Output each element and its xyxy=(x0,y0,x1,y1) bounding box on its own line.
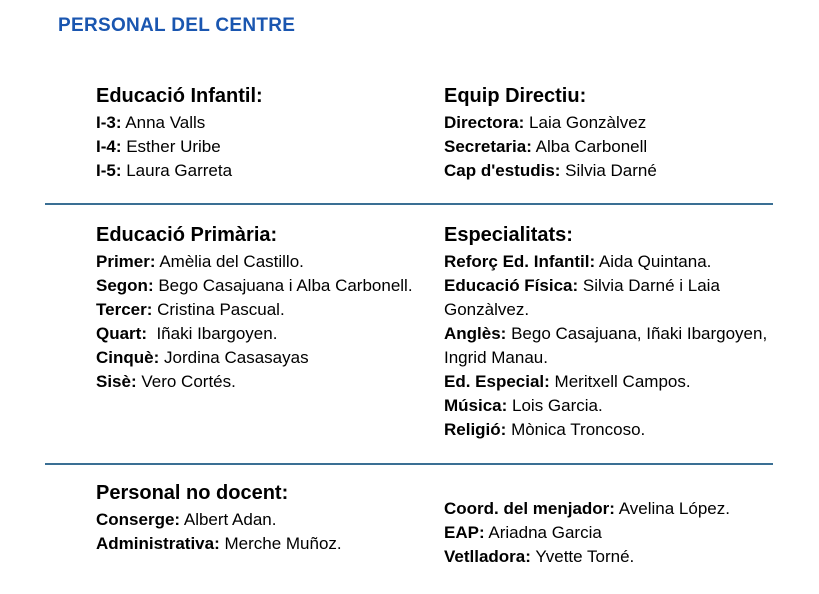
entry-role: Directora: xyxy=(444,113,524,132)
page-title: PERSONAL DEL CENTRE xyxy=(58,15,295,37)
entry-name: Vero Cortés. xyxy=(137,372,236,391)
entry-list: Primer: Amèlia del Castillo. Segon: Bego… xyxy=(96,250,426,394)
section-heading: Educació Primària: xyxy=(96,222,426,249)
entry-role: Anglès: xyxy=(444,324,506,343)
entry-role: Tercer: xyxy=(96,300,152,319)
entry-role: Secretaria: xyxy=(444,137,532,156)
section-educacio-primaria: Educació Primària: Primer: Amèlia del Ca… xyxy=(96,222,426,394)
entry-role: Administrativa: xyxy=(96,534,220,553)
entry-name: Amèlia del Castillo. xyxy=(156,252,304,271)
entry-role: EAP: xyxy=(444,523,485,542)
entry-name: Anna Valls xyxy=(122,113,206,132)
section-heading: Especialitats: xyxy=(444,222,779,249)
entry-name: Cristina Pascual. xyxy=(152,300,284,319)
entry-name: Meritxell Campos. xyxy=(550,372,691,391)
section-especialitats: Especialitats: Reforç Ed. Infantil: Aida… xyxy=(444,222,779,442)
entry-role: Sisè: xyxy=(96,372,137,391)
entry-name: Esther Uribe xyxy=(122,137,221,156)
entry-name: Laia Gonzàlvez xyxy=(524,113,646,132)
list-item: Directora: Laia Gonzàlvez xyxy=(444,111,779,135)
list-item: Coord. del menjador: Avelina López. xyxy=(444,497,779,521)
section-educacio-infantil: Educació Infantil: I-3: Anna Valls I-4: … xyxy=(96,83,426,183)
list-item: Anglès: Bego Casajuana, Iñaki Ibargoyen,… xyxy=(444,322,779,370)
entry-list: Conserge: Albert Adan. Administrativa: M… xyxy=(96,508,426,556)
list-item: Religió: Mònica Troncoso. xyxy=(444,418,779,442)
entry-role: Educació Física: xyxy=(444,276,578,295)
entry-role: Ed. Especial: xyxy=(444,372,550,391)
entry-name: Aida Quintana. xyxy=(595,252,711,271)
section-heading: Educació Infantil: xyxy=(96,83,426,110)
entry-role: Cinquè: xyxy=(96,348,159,367)
list-item: I-3: Anna Valls xyxy=(96,111,426,135)
document-page: PERSONAL DEL CENTRE Educació Infantil: I… xyxy=(0,0,819,594)
list-item: Tercer: Cristina Pascual. xyxy=(96,298,426,322)
entry-role: I-4: xyxy=(96,137,122,156)
entry-role: I-3: xyxy=(96,113,122,132)
section-divider xyxy=(45,463,773,465)
section-heading: Equip Directiu: xyxy=(444,83,779,110)
entry-role: Cap d'estudis: xyxy=(444,161,560,180)
list-item: I-5: Laura Garreta xyxy=(96,159,426,183)
list-item: Administrativa: Merche Muñoz. xyxy=(96,532,426,556)
entry-name: Albert Adan. xyxy=(180,510,276,529)
list-item: Vetlladora: Yvette Torné. xyxy=(444,545,779,569)
entry-role: Religió: xyxy=(444,420,506,439)
list-item: Cinquè: Jordina Casasayas xyxy=(96,346,426,370)
list-item: Conserge: Albert Adan. xyxy=(96,508,426,532)
entry-role: Coord. del menjador: xyxy=(444,499,615,518)
list-item: Quart: Iñaki Ibargoyen. xyxy=(96,322,426,346)
entry-name: Lois Garcia. xyxy=(507,396,602,415)
entry-name: Yvette Torné. xyxy=(531,547,634,566)
entry-name: Jordina Casasayas xyxy=(159,348,308,367)
entry-role: Conserge: xyxy=(96,510,180,529)
entry-name: Iñaki Ibargoyen. xyxy=(147,324,277,343)
section-divider xyxy=(45,203,773,205)
entry-name: Merche Muñoz. xyxy=(220,534,342,553)
list-item: Educació Física: Silvia Darné i Laia Gon… xyxy=(444,274,779,322)
entry-role: Música: xyxy=(444,396,507,415)
list-item: Música: Lois Garcia. xyxy=(444,394,779,418)
section-equip-directiu: Equip Directiu: Directora: Laia Gonzàlve… xyxy=(444,83,779,183)
entry-name: Silvia Darné xyxy=(560,161,656,180)
entry-role: Segon: xyxy=(96,276,154,295)
entry-list: I-3: Anna Valls I-4: Esther Uribe I-5: L… xyxy=(96,111,426,183)
entry-role: Primer: xyxy=(96,252,156,271)
entry-name: Bego Casajuana i Alba Carbonell. xyxy=(154,276,413,295)
list-item: Sisè: Vero Cortés. xyxy=(96,370,426,394)
entry-list: Reforç Ed. Infantil: Aida Quintana. Educ… xyxy=(444,250,779,442)
section-heading: Personal no docent: xyxy=(96,480,426,507)
list-item: Reforç Ed. Infantil: Aida Quintana. xyxy=(444,250,779,274)
list-item: Ed. Especial: Meritxell Campos. xyxy=(444,370,779,394)
entry-name: Ariadna Garcia xyxy=(485,523,602,542)
list-item: I-4: Esther Uribe xyxy=(96,135,426,159)
entry-list: Directora: Laia Gonzàlvez Secretaria: Al… xyxy=(444,111,779,183)
list-item: EAP: Ariadna Garcia xyxy=(444,521,779,545)
entry-name: Laura Garreta xyxy=(122,161,233,180)
entry-name: Avelina López. xyxy=(615,499,730,518)
list-item: Secretaria: Alba Carbonell xyxy=(444,135,779,159)
entry-list: Coord. del menjador: Avelina López. EAP:… xyxy=(444,497,779,569)
entry-role: Vetlladora: xyxy=(444,547,531,566)
entry-name: Alba Carbonell xyxy=(532,137,647,156)
entry-role: Reforç Ed. Infantil: xyxy=(444,252,595,271)
list-item: Cap d'estudis: Silvia Darné xyxy=(444,159,779,183)
entry-role: Quart: xyxy=(96,324,147,343)
entry-name: Mònica Troncoso. xyxy=(506,420,645,439)
section-personal-no-docent: Personal no docent: Conserge: Albert Ada… xyxy=(96,480,426,556)
section-altres-serveis: Coord. del menjador: Avelina López. EAP:… xyxy=(444,497,779,569)
list-item: Segon: Bego Casajuana i Alba Carbonell. xyxy=(96,274,426,298)
entry-role: I-5: xyxy=(96,161,122,180)
list-item: Primer: Amèlia del Castillo. xyxy=(96,250,426,274)
